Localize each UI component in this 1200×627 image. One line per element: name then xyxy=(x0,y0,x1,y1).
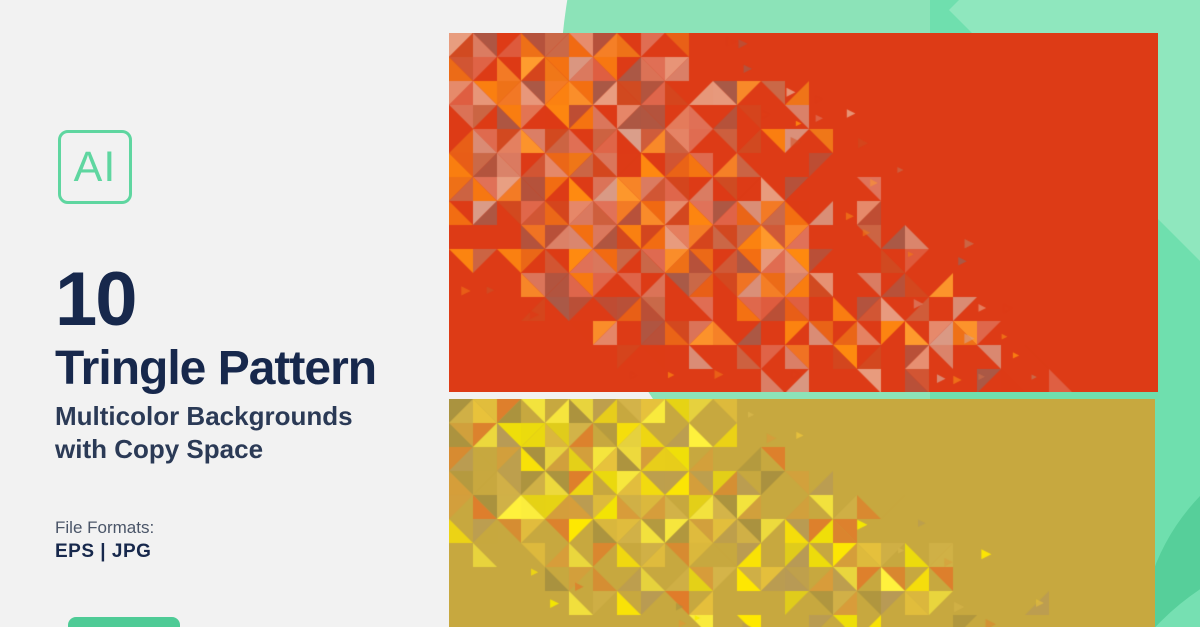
file-formats-value: EPS | JPG xyxy=(55,541,151,563)
adobe-illustrator-badge-icon: AI xyxy=(58,130,132,204)
poster-canvas: AI 10 Tringle Pattern Multicolor Backgro… xyxy=(0,0,1200,627)
item-count: 10 xyxy=(55,262,136,338)
page-title: Tringle Pattern xyxy=(55,345,376,393)
info-column: AI 10 Tringle Pattern Multicolor Backgro… xyxy=(0,0,449,627)
triangle-mosaic-red xyxy=(449,33,1158,392)
page-subtitle-line-1: Multicolor Backgrounds xyxy=(55,400,353,433)
preview-panel-yellow[interactable] xyxy=(449,399,1155,627)
page-subtitle: Multicolor Backgrounds with Copy Space xyxy=(55,400,353,465)
page-subtitle-line-2: with Copy Space xyxy=(55,433,353,466)
file-formats-label: File Formats: xyxy=(55,518,154,538)
cta-button[interactable] xyxy=(68,617,180,627)
badge-label: AI xyxy=(74,146,117,189)
triangle-mosaic-yellow xyxy=(449,399,1155,627)
preview-panel-red[interactable] xyxy=(449,33,1158,392)
